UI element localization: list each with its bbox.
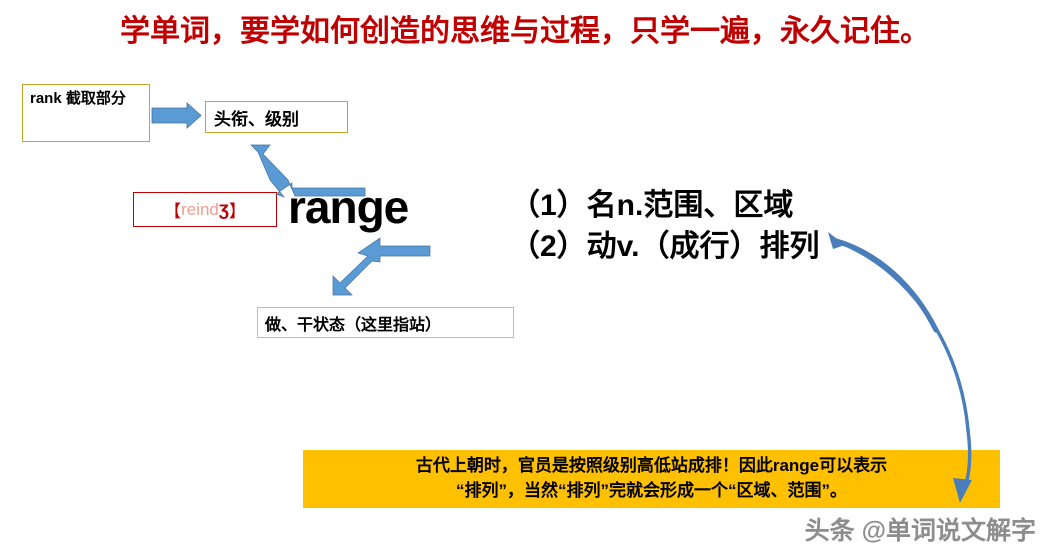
phonetic-zh-symbol: ʒ	[219, 199, 229, 221]
box-rank-prefix: rank 截取部分	[22, 84, 150, 142]
box-state-label: 做、干状态（这里指站）	[265, 311, 441, 335]
arrow-rank-to-title-rank	[152, 103, 201, 128]
headword-range: range	[288, 184, 408, 230]
phonetic-open-bracket: 【	[164, 197, 181, 222]
box-rank-label: rank 截取部分	[30, 89, 126, 109]
box-state-meaning: 做、干状态（这里指站）	[257, 307, 514, 338]
phonetic-close-bracket: 】	[229, 197, 246, 222]
watermark: 头条 @单词说文解字	[805, 511, 1036, 547]
page-title: 学单词，要学如何创造的思维与过程，只学一遍，永久记住。	[0, 14, 1050, 50]
explanation-line-1: 古代上朝时，官员是按照级别高低站成排！因此range可以表示	[309, 454, 994, 479]
box-explanation: 古代上朝时，官员是按照级别高低站成排！因此range可以表示 “排列”，当然“排…	[303, 450, 1000, 508]
definition-noun: （1）名n.范围、区域	[510, 186, 819, 227]
explanation-line-2: “排列”，当然“排列”完就会形成一个“区域、范围”。	[309, 479, 994, 504]
definitions-list: （1）名n.范围、区域 （2）动v.（成行）排列	[510, 186, 819, 267]
box-title-rank-label: 头衔、级别	[214, 105, 299, 130]
arrow-range-to-state	[333, 238, 430, 295]
definition-verb: （2）动v.（成行）排列	[510, 227, 819, 268]
box-phonetic: 【reindʒ】	[133, 192, 277, 227]
box-title-rank: 头衔、级别	[205, 101, 348, 133]
phonetic-body: reind	[181, 200, 219, 220]
slide-canvas: 学单词，要学如何创造的思维与过程，只学一遍，永久记住。 rank 截取部分 头衔…	[0, 0, 1050, 553]
